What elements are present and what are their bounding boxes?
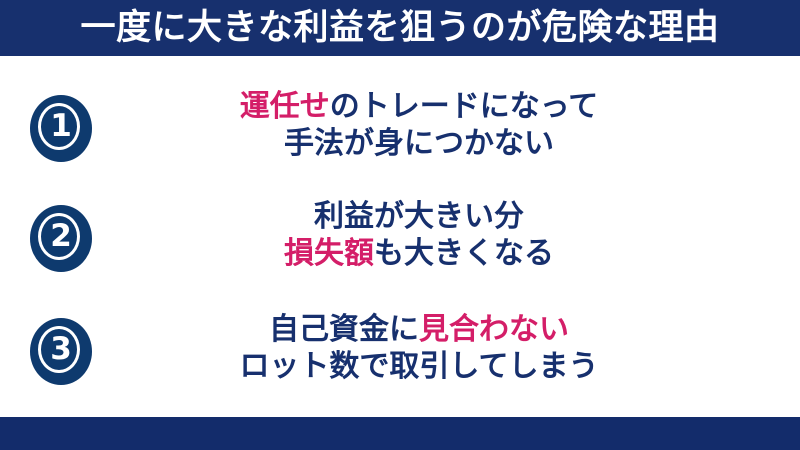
reason-1-line-1: 運任せのトレードになって — [96, 89, 742, 126]
reason-1-highlight: 運任せ — [240, 89, 330, 124]
header-band: 一度に大きな利益を狙うのが危険な理由 — [0, 0, 800, 56]
circle-number-label: 3 — [50, 334, 72, 365]
reason-3-line1-rest: 自己資金に — [269, 312, 419, 347]
reason-2-line-2: 損失額も大きくなる — [96, 236, 742, 273]
slide-root: 一度に大きな利益を狙うのが危険な理由 1 運任せのトレードになって 手法が身につ… — [0, 0, 800, 450]
list-item: 1 運任せのトレードになって 手法が身につかない — [0, 72, 800, 180]
reason-list: 1 運任せのトレードになって 手法が身につかない 2 利益が大きい分 損失額も大… — [0, 62, 800, 412]
circled-number-2-icon: 2 — [26, 199, 96, 274]
circle-number-label: 1 — [50, 111, 72, 142]
reason-1-line2-rest: 手法が身につかない — [284, 126, 554, 161]
reason-3-line-2: ロット数で取引してしまう — [96, 349, 742, 386]
circled-number-3-icon: 3 — [26, 312, 96, 387]
reason-2-highlight: 損失額 — [284, 236, 374, 271]
reason-3-line2-rest: ロット数で取引してしまう — [239, 349, 598, 384]
reason-3-highlight: 見合わない — [419, 312, 569, 347]
reason-text-3: 自己資金に見合わない ロット数で取引してしまう — [96, 312, 800, 385]
list-item: 2 利益が大きい分 損失額も大きくなる — [0, 182, 800, 290]
reason-2-line2-rest: も大きくなる — [374, 236, 554, 271]
reason-text-1: 運任せのトレードになって 手法が身につかない — [96, 89, 800, 162]
footer-band — [0, 417, 800, 450]
reason-1-line1-rest: のトレードになって — [330, 89, 599, 124]
reason-text-2: 利益が大きい分 損失額も大きくなる — [96, 199, 800, 272]
circled-number-1-icon: 1 — [26, 89, 96, 164]
reason-2-line1-rest: 利益が大きい分 — [314, 199, 524, 234]
reason-1-line-2: 手法が身につかない — [96, 126, 742, 163]
circle-number-label: 2 — [50, 221, 72, 252]
page-title: 一度に大きな利益を狙うのが危険な理由 — [80, 11, 719, 46]
reason-3-line-1: 自己資金に見合わない — [96, 312, 742, 349]
reason-2-line-1: 利益が大きい分 — [96, 199, 742, 236]
list-item: 3 自己資金に見合わない ロット数で取引してしまう — [0, 295, 800, 403]
